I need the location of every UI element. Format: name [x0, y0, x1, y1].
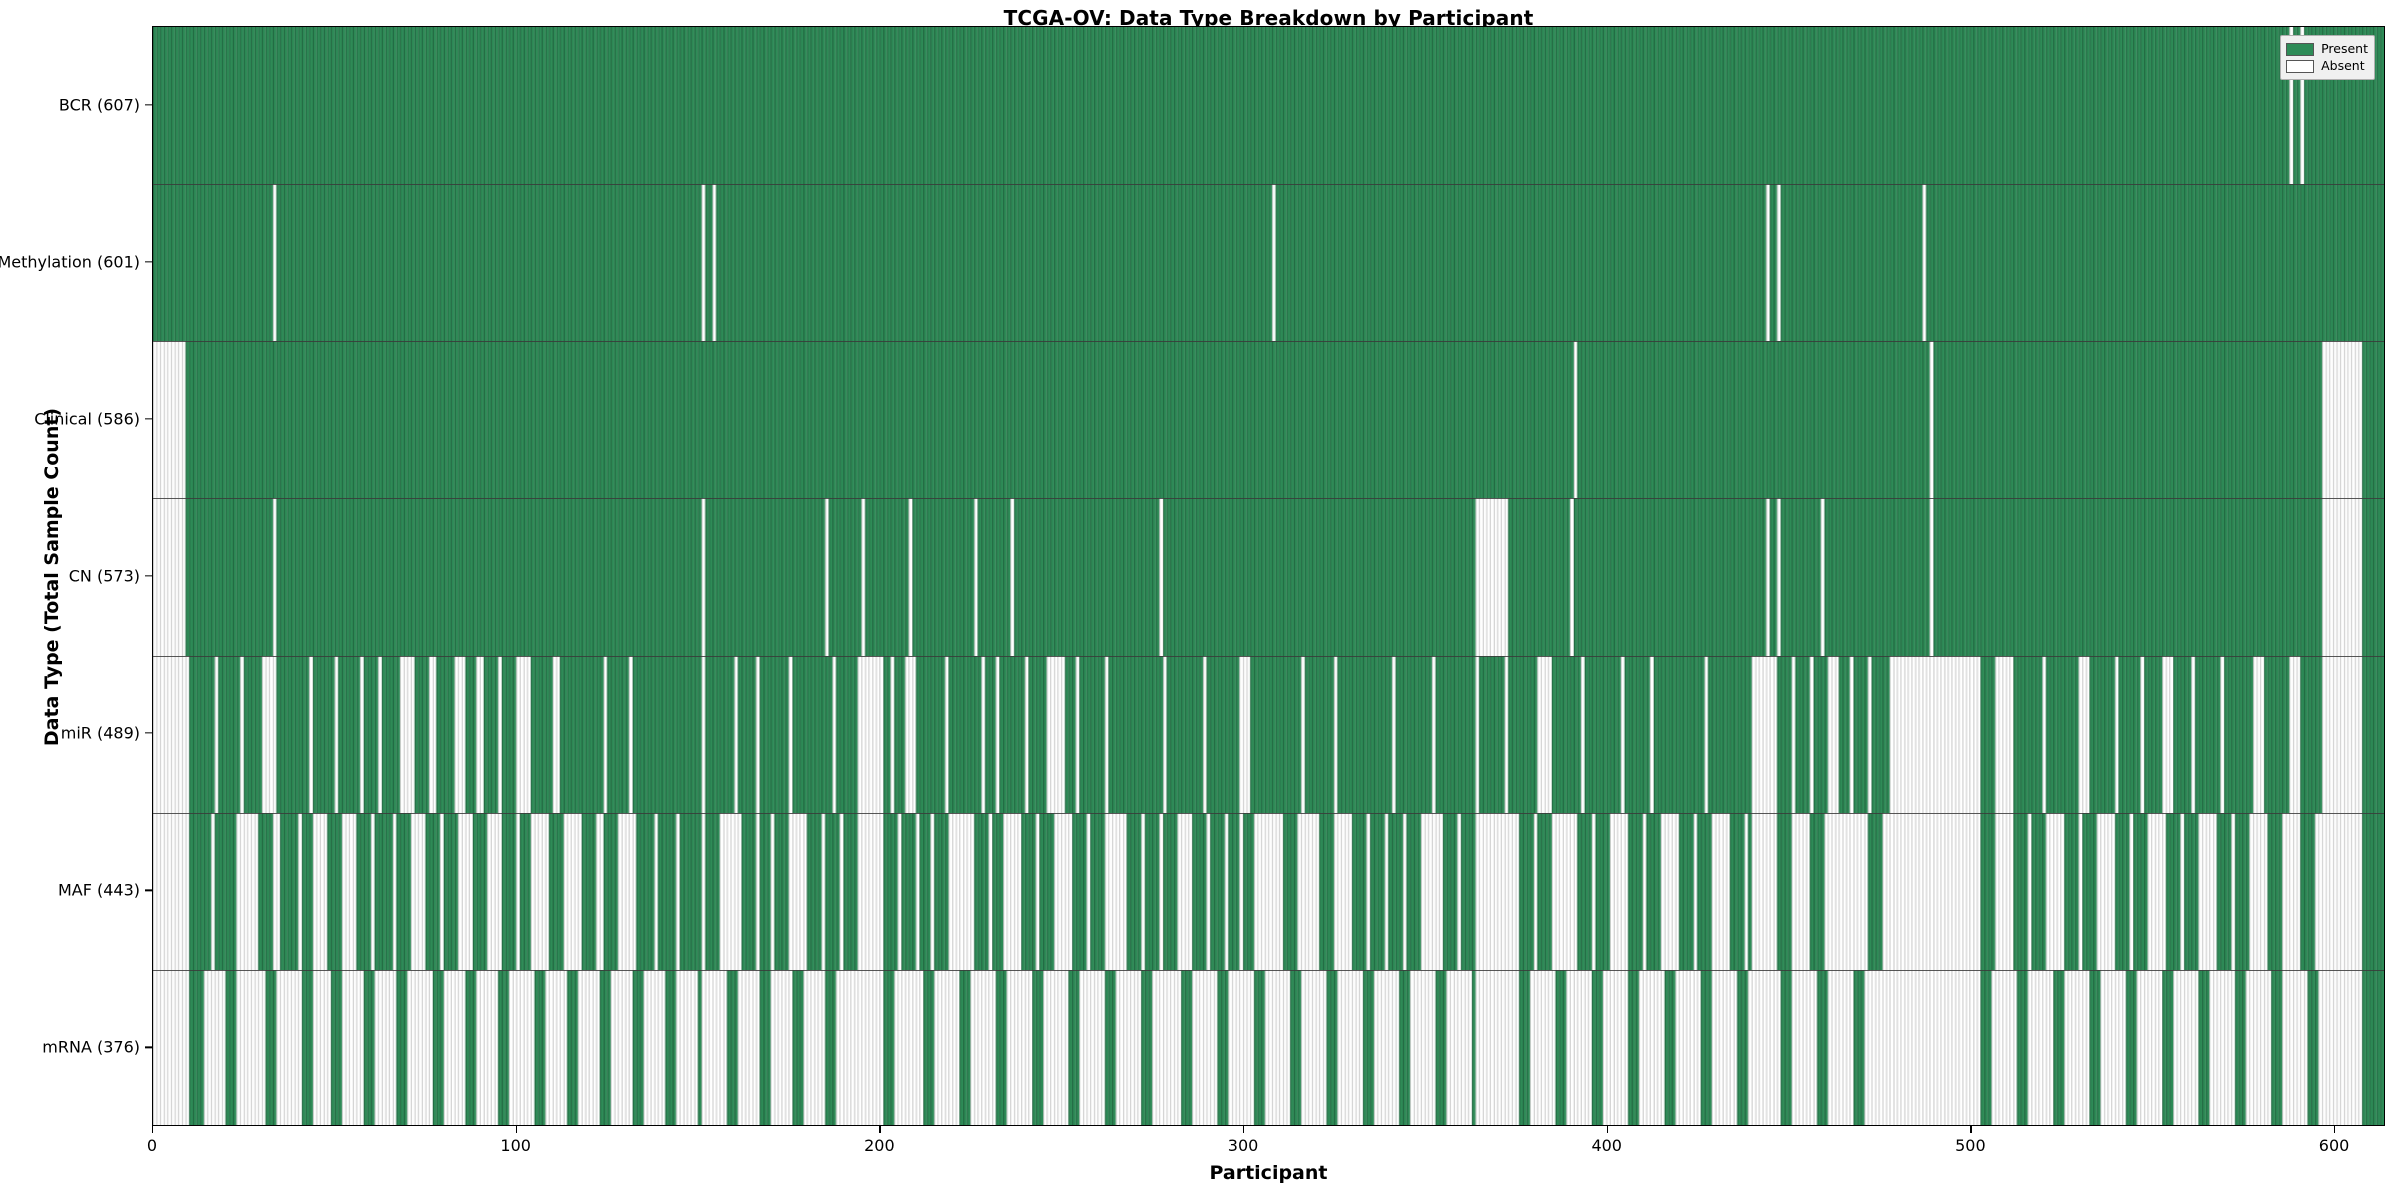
x-tick-mark	[2334, 1126, 2335, 1133]
y-axis-ticks: BCR (607)Methylation (601)Clinical (586)…	[0, 0, 152, 1200]
y-tick-label-methylation: Methylation (601)	[0, 252, 140, 271]
x-tick-mark	[1243, 1126, 1244, 1133]
heatmap-row-maf[interactable]	[153, 813, 2384, 970]
legend-label-absent: Absent	[2321, 60, 2365, 73]
row-separator	[153, 970, 2384, 971]
x-tick-mark	[1970, 1126, 1971, 1133]
x-tick-mark	[1607, 1126, 1608, 1133]
x-tick-label-300: 300	[1228, 1136, 1259, 1155]
y-tick-label-bcr: BCR (607)	[59, 95, 140, 114]
x-tick-label-200: 200	[864, 1136, 895, 1155]
x-tick-mark	[516, 1126, 517, 1133]
legend-item-present[interactable]: Present	[2286, 41, 2368, 57]
y-tick-mark	[145, 418, 152, 419]
x-tick-label-600: 600	[2319, 1136, 2350, 1155]
row-separator	[153, 498, 2384, 499]
row-separator	[153, 656, 2384, 657]
y-tick-label-mir: miR (489)	[61, 724, 140, 743]
y-tick-label-maf: MAF (443)	[58, 881, 140, 900]
x-axis-ticks: 0100200300400500600	[0, 1126, 2400, 1186]
legend-swatch-present	[2286, 43, 2314, 56]
y-tick-mark	[145, 104, 152, 105]
heatmap-row-clinical[interactable]	[153, 341, 2384, 498]
legend-swatch-absent	[2286, 60, 2314, 73]
y-tick-mark	[145, 1047, 152, 1048]
y-tick-mark	[145, 732, 152, 733]
x-tick-label-400: 400	[1591, 1136, 1622, 1155]
y-tick-label-cn: CN (573)	[69, 567, 140, 586]
row-separator	[153, 813, 2384, 814]
heatmap-row-mir[interactable]	[153, 656, 2384, 813]
legend-item-absent[interactable]: Absent	[2286, 58, 2368, 74]
x-tick-mark	[152, 1126, 153, 1133]
y-tick-mark	[145, 261, 152, 262]
y-tick-mark	[145, 575, 152, 576]
row-separator	[153, 184, 2384, 185]
y-tick-label-mrna: mRNA (376)	[42, 1038, 140, 1057]
plot-area[interactable]: Present Absent	[152, 26, 2385, 1126]
x-tick-mark	[879, 1126, 880, 1133]
x-tick-label-0: 0	[147, 1136, 157, 1155]
chart-canvas: TCGA-OV: Data Type Breakdown by Particip…	[0, 0, 2400, 1200]
y-tick-label-clinical: Clinical (586)	[34, 409, 140, 428]
heatmap-row-cn[interactable]	[153, 498, 2384, 655]
heatmap-row-bcr[interactable]	[153, 27, 2384, 184]
heatmap-row-methylation[interactable]	[153, 184, 2384, 341]
x-tick-label-500: 500	[1955, 1136, 1986, 1155]
y-tick-mark	[145, 890, 152, 891]
row-separator	[153, 341, 2384, 342]
legend[interactable]: Present Absent	[2280, 35, 2375, 80]
legend-label-present: Present	[2321, 43, 2368, 56]
heatmap-row-mrna[interactable]	[153, 970, 2384, 1126]
x-tick-label-100: 100	[500, 1136, 531, 1155]
